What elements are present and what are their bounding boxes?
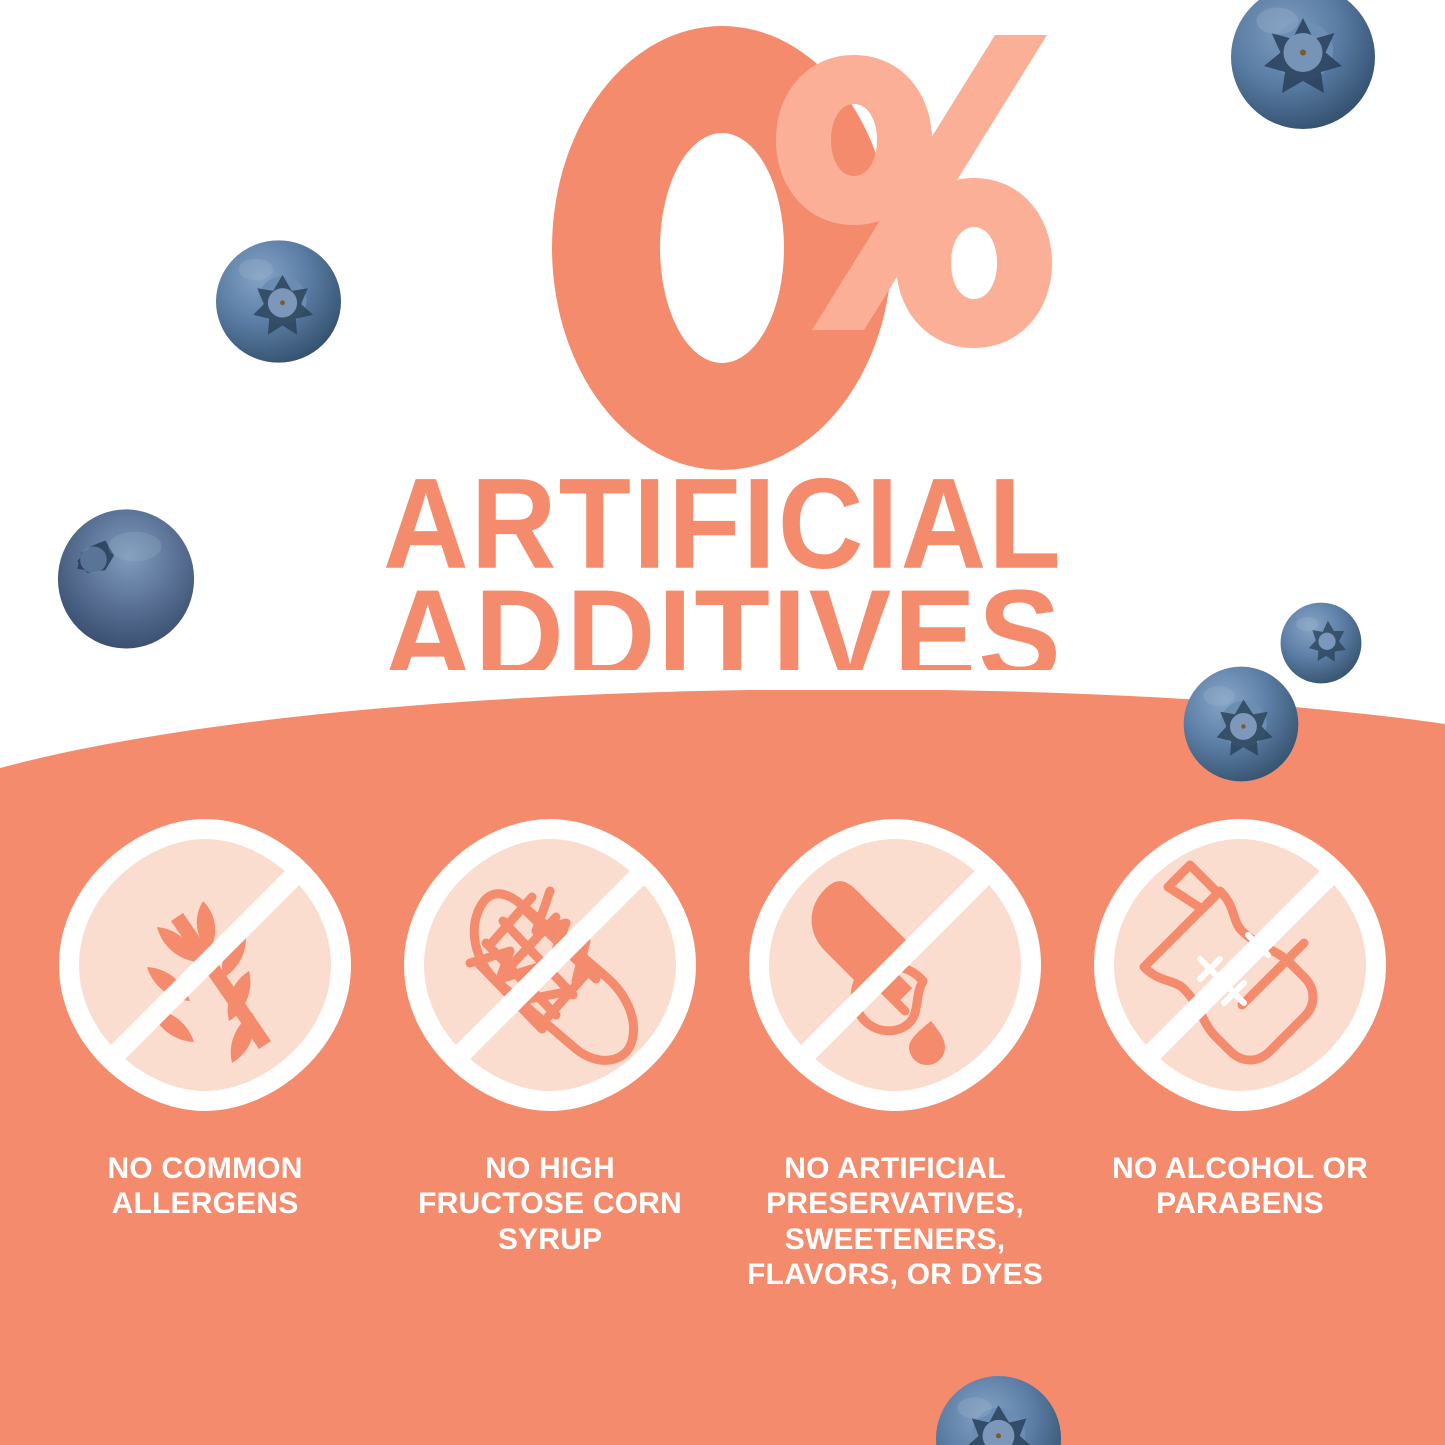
no-bottle-icon	[1090, 815, 1390, 1115]
blueberry-upper-left	[212, 235, 345, 368]
badge-item-alcohol: NO ALCOHOL OR PARABENS	[1081, 815, 1399, 1293]
no-dropper-icon	[745, 815, 1045, 1115]
badge-caption: NO HIGH FRUCTOSE CORN SYRUP	[400, 1151, 700, 1257]
blueberry-right-edge	[1180, 663, 1302, 785]
blueberry-mid-left	[52, 500, 200, 652]
badge-item-allergens: NO COMMON ALLERGENS	[46, 815, 364, 1293]
badge-caption: NO ALCOHOL OR PARABENS	[1090, 1151, 1390, 1222]
coral-panel: NO COMMON ALLERGENS	[0, 690, 1445, 1445]
no-wheat-icon	[55, 815, 355, 1115]
headline-block: ARTIFICIAL ADDITIVES	[0, 470, 1445, 670]
badge-item-preservatives: NO ARTIFICIAL PRESERVATIVES, SWEETENERS,…	[736, 815, 1054, 1293]
no-corn-icon	[400, 815, 700, 1115]
blueberry-right-small	[1278, 600, 1364, 686]
hero-section: 0 % ARTIFICIAL ADDITIVES	[0, 0, 1445, 700]
headline-line-2: ADDITIVES	[383, 563, 1063, 670]
badge-caption: NO COMMON ALLERGENS	[55, 1151, 355, 1222]
badge-item-corn-syrup: NO HIGH FRUCTOSE CORN SYRUP	[391, 815, 709, 1293]
badge-row: NO COMMON ALLERGENS	[0, 815, 1445, 1293]
poster-canvas: NO COMMON ALLERGENS	[0, 0, 1445, 1445]
badge-caption: NO ARTIFICIAL PRESERVATIVES, SWEETENERS,…	[745, 1151, 1045, 1293]
